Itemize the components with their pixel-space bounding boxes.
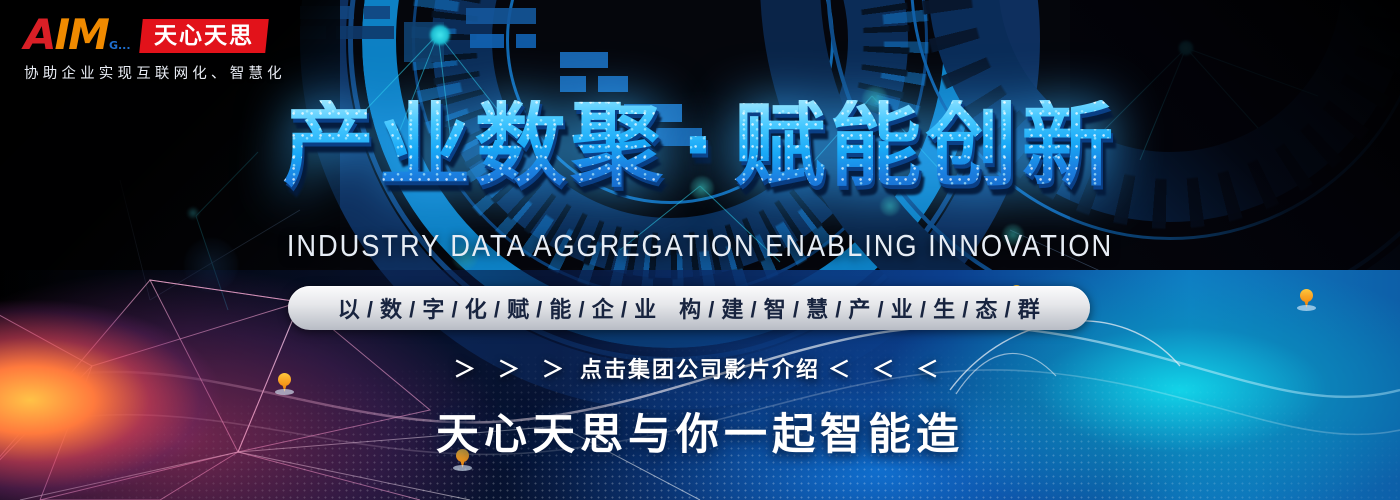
- promotional-banner: AIMG... 天心天思 协助企业实现互联网化、智慧化 产业数聚·赋能创新 IN…: [0, 0, 1400, 500]
- logo-letters-im: IM: [55, 16, 108, 55]
- brand-badge-label: 天心天思: [154, 24, 254, 47]
- brand-tagline: 协助企业实现互联网化、智慧化: [24, 62, 286, 83]
- headline-cn-part2: 赋能创新: [733, 100, 1117, 192]
- aim-wordmark: AIMG...: [24, 16, 131, 55]
- logo-letter-a: A: [24, 16, 55, 55]
- footer-slogan: 天心天思与你一起智能造: [0, 400, 1400, 462]
- cta-arrows-right: ＜ ＜ ＜: [828, 357, 946, 382]
- slogan-pill: 以 / 数 / 字 / 化 / 赋 / 能 / 企 / 业 构 / 建 / 智 …: [288, 286, 1090, 330]
- slogan-pill-text: 以 / 数 / 字 / 化 / 赋 / 能 / 企 / 业 构 / 建 / 智 …: [338, 292, 1041, 324]
- logo-superscript: G...: [109, 41, 131, 51]
- cta-label: 点击集团公司影片介绍: [580, 357, 820, 382]
- map-pin-icon: [1300, 289, 1313, 308]
- node-glow-icon: [429, 24, 451, 46]
- brand-badge: 天心天思: [139, 19, 269, 53]
- headline-block: 产业数聚·赋能创新: [0, 100, 1400, 192]
- node-glow-icon: [880, 196, 900, 216]
- headline-cn-part1: 产业数聚: [283, 100, 667, 192]
- video-cta-link[interactable]: ＞ ＞ ＞ 点击集团公司影片介绍 ＜ ＜ ＜: [0, 352, 1400, 384]
- headline-separator: ·: [667, 100, 734, 192]
- headline-english-subtitle: INDUSTRY DATA AGGREGATION ENABLING INNOV…: [84, 228, 1316, 264]
- brand-logo[interactable]: AIMG... 天心天思 协助企业实现互联网化、智慧化: [24, 16, 286, 83]
- cta-arrows-left: ＞ ＞ ＞: [454, 357, 572, 382]
- logo-row: AIMG... 天心天思: [24, 16, 286, 55]
